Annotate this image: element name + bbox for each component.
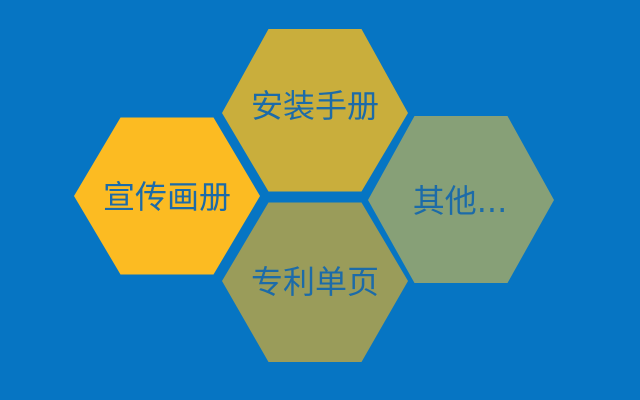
hexagon-label-patent-flyer: 专利单页 — [251, 266, 379, 298]
hexagon-label-promo-brochure: 宣传画册 — [103, 181, 231, 213]
diagram-canvas: 宣传画册 安装手册 专利单页 其他... — [0, 0, 640, 400]
hexagon-cluster — [0, 0, 640, 400]
hexagon-label-others: 其他... — [413, 185, 508, 217]
hexagon-label-installation-manual: 安装手册 — [251, 90, 379, 122]
